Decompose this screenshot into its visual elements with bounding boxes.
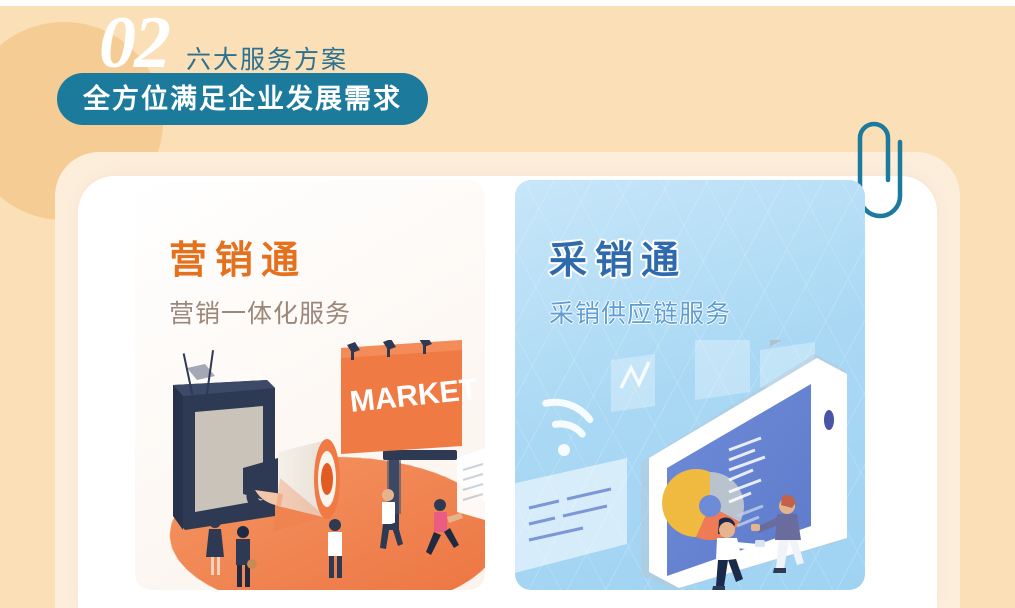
card-marketing-title: 营销通 (169, 242, 307, 280)
supply-chain-illustration (515, 340, 865, 590)
marketing-illustration: MARKET (135, 340, 485, 590)
card-marketing-subtitle: 营销一体化服务 (169, 302, 351, 327)
service-cards: 营销通 营销一体化服务 (0, 0, 1015, 608)
card-procurement[interactable]: 采销通 采销供应链服务 (515, 180, 865, 590)
card-procurement-title: 采销通 (549, 242, 687, 280)
page-root: 02 六大服务方案 全方位满足企业发展需求 营销通 营销一体化服务 (0, 0, 1015, 608)
card-marketing[interactable]: 营销通 营销一体化服务 (135, 180, 485, 590)
card-procurement-subtitle: 采销供应链服务 (549, 302, 731, 327)
